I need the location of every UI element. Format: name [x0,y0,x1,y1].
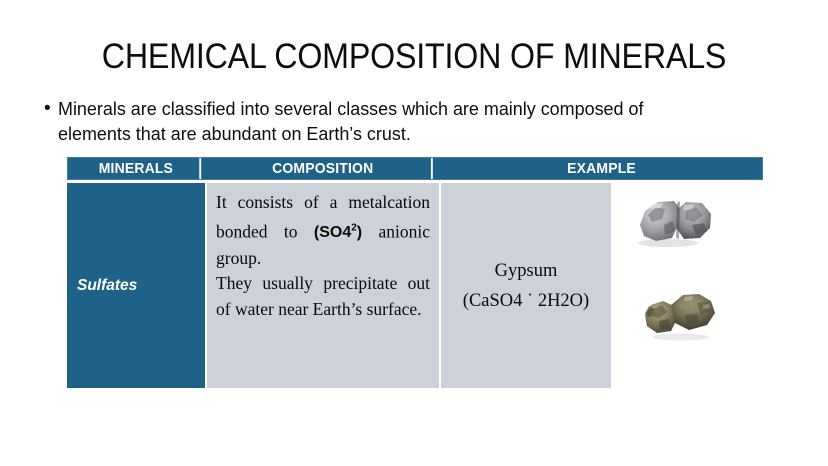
table-header-minerals: MINERALS [73,158,201,179]
table-header-example: EXAMPLE [452,158,751,179]
cell-example: Gypsum (CaSO4 ˙ 2H2O) [441,183,761,388]
example-mineral-name: Gypsum [495,256,558,286]
cell-composition: It consists of a metalcation bonded to (… [205,183,441,388]
composition-sentence-1: It consists of a metalcation bonded to (… [216,190,430,271]
table-header-row: MINERALS COMPOSITION EXAMPLE [67,157,763,180]
composition-sentence-2: They usually precipitate out of water ne… [216,271,430,322]
bullet-marker-icon: • [44,96,51,121]
minerals-table: MINERALS COMPOSITION EXAMPLE Sulfates It… [67,157,763,388]
table-row: Sulfates It consists of a metalcation bo… [67,183,763,388]
composition-text: It consists of a metalcation bonded to (… [216,190,430,322]
bullet-text: Minerals are classified into several cla… [58,96,698,146]
page-title: CHEMICAL COMPOSITION OF MINERALS [33,36,795,78]
gypsum-specimen-olive-image [641,289,723,341]
example-image-area [613,183,761,388]
bullet-paragraph: • Minerals are classified into several c… [44,96,744,146]
mineral-name-label: Sulfates [77,277,137,295]
table-header-composition: COMPOSITION [214,158,433,179]
gypsum-specimen-grey-image [634,195,716,247]
example-chemical-formula: (CaSO4 ˙ 2H2O) [463,286,589,316]
cell-mineral: Sulfates [67,183,205,388]
sulfate-formula: (SO42) [314,224,362,241]
example-text-block: Gypsum (CaSO4 ˙ 2H2O) [441,183,613,388]
sulfate-formula-base: (SO4 [314,224,351,241]
